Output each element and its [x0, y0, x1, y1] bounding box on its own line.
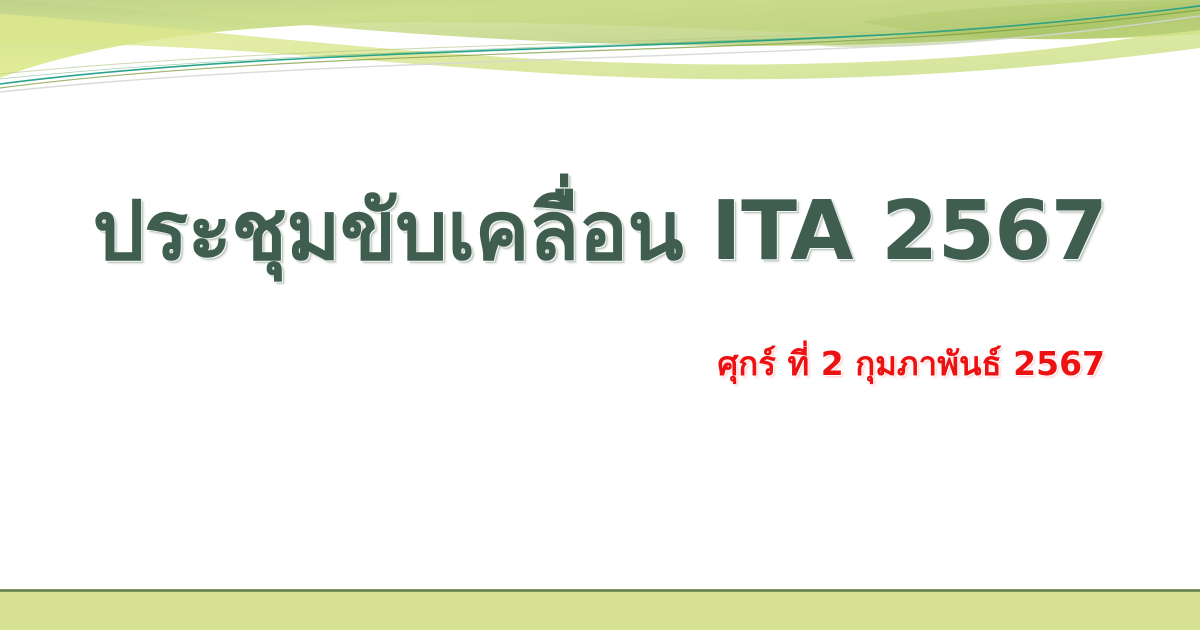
- page-title: ประชุมขับเคลื่อน ITA 2567: [93, 186, 1108, 278]
- presentation-slide: ประชุมขับเคลื่อน ITA 2567 ศุกร์ ที่ 2 กุ…: [0, 0, 1200, 630]
- green-wave-ribbon-header-icon: [0, 0, 1200, 105]
- slide-date-subtitle: ศุกร์ ที่ 2 กุมภาพันธ์ 2567: [717, 345, 1105, 383]
- green-band-footer-icon: [0, 589, 1200, 630]
- title-block: ประชุมขับเคลื่อน ITA 2567: [0, 186, 1200, 278]
- footer-fill: [0, 592, 1200, 630]
- subtitle-block: ศุกร์ ที่ 2 กุมภาพันธ์ 2567: [0, 345, 1200, 383]
